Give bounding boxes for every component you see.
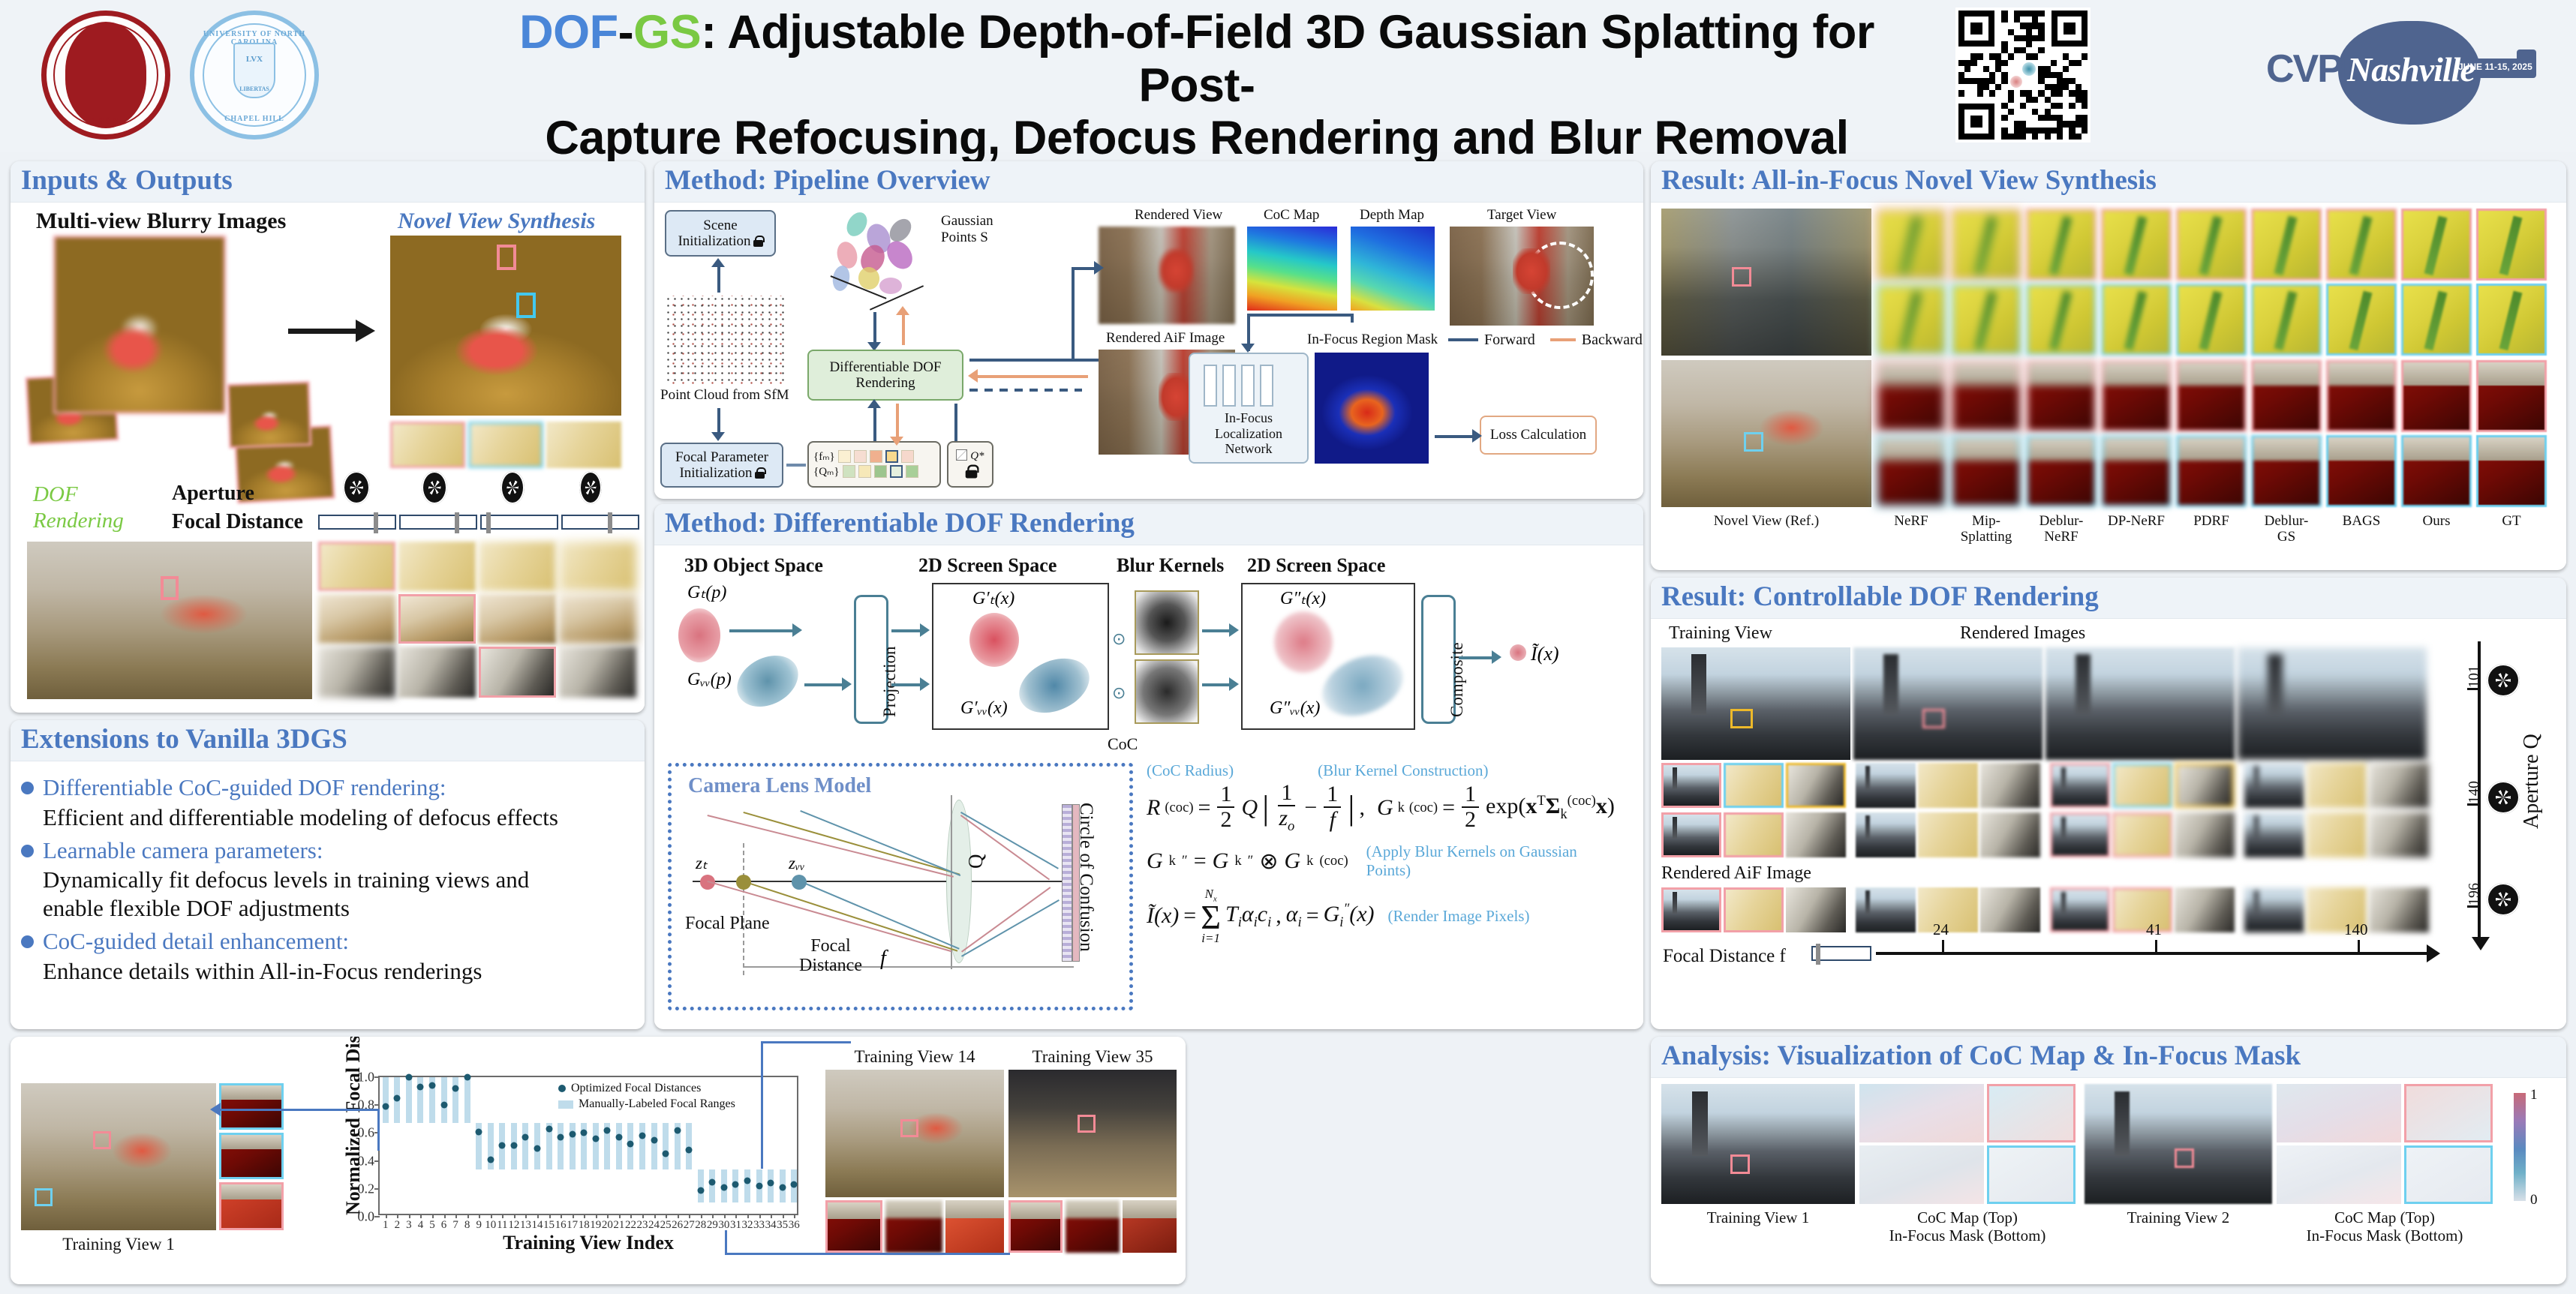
chart-xtick-label: 19 bbox=[590, 1219, 601, 1232]
panel-analysis-coc-body: Training View 1 CoC Map (Top) In-Focus M… bbox=[1651, 1078, 2566, 1278]
chart-range-bar bbox=[663, 1123, 669, 1169]
arrow-pointcloud-to-focal bbox=[717, 408, 720, 434]
dof-crop bbox=[1724, 887, 1784, 932]
dof-crop bbox=[1786, 763, 1846, 808]
chart-xtick-mark bbox=[573, 1214, 574, 1218]
label-infocus-region-mask: In-Focus Region Mask bbox=[1307, 332, 1438, 348]
chart-xtick-mark bbox=[397, 1214, 398, 1218]
focal-tick-mark-3 bbox=[2358, 940, 2360, 952]
aif-crop bbox=[1951, 360, 2021, 432]
analysis-training-view-35-image bbox=[1008, 1070, 1177, 1197]
aperture-icon-4[interactable] bbox=[579, 471, 602, 504]
dof-crop-group bbox=[2050, 812, 2235, 857]
chart-range-bar bbox=[709, 1169, 715, 1203]
chart-xtick-label: 8 bbox=[464, 1219, 470, 1232]
aperture-icon-3[interactable] bbox=[500, 471, 525, 504]
panel-pipeline-body: Scene Initialization Point Cloud from Sf… bbox=[654, 203, 1643, 493]
leader-line-view14 bbox=[761, 1041, 763, 1169]
aif-method-label: Deblur-GS bbox=[2251, 513, 2322, 545]
dof-crop-r2c3 bbox=[479, 594, 556, 644]
focal-plane-line bbox=[743, 843, 744, 975]
bullet-dot-icon bbox=[21, 845, 34, 857]
panel-dof-result-header: Result: Controllable DOF Rendering bbox=[1651, 578, 2566, 619]
infocus-mask-image bbox=[1315, 353, 1429, 464]
chart-xtick-label: 34 bbox=[765, 1219, 777, 1232]
input-view-thumb-2 bbox=[227, 381, 312, 449]
chart-xtick-mark bbox=[420, 1214, 422, 1218]
dof-crop-group bbox=[1661, 887, 1846, 932]
equation-coc-radius: R(coc)= 12 Q | 1zo − 1f | , Gk(coc)= 12 … bbox=[1147, 782, 1597, 833]
eq-note-render: (Render Image Pixels) bbox=[1388, 907, 1530, 926]
panel-analysis-focal-body: Training View 1 0.00.20.40.60.81.0123456… bbox=[11, 1037, 1186, 1284]
extension-item-2-head: Learnable camera parameters: bbox=[43, 836, 323, 865]
box-scene-initialization: Scene Initialization bbox=[665, 210, 776, 257]
aif-crops-row-bottom2 bbox=[1876, 435, 2547, 507]
aif-crop bbox=[2476, 435, 2547, 507]
chart-data-point bbox=[756, 1183, 762, 1190]
dof-crop bbox=[1661, 812, 1721, 857]
bullet-dot-icon bbox=[21, 935, 34, 948]
chart-xtick-mark bbox=[712, 1214, 714, 1218]
dof-crop bbox=[1856, 812, 1916, 857]
chart-xtick-mark bbox=[502, 1214, 503, 1218]
label-depth-map: Depth Map bbox=[1360, 207, 1424, 224]
chart-ytick-mark bbox=[374, 1188, 380, 1190]
chart-data-point bbox=[709, 1178, 716, 1185]
aif-method-label: PDRF bbox=[2176, 513, 2247, 529]
panel-extensions-body: Differentiable CoC-guided DOF rendering:… bbox=[11, 761, 645, 1023]
chart-range-bar bbox=[698, 1169, 704, 1203]
chart-data-point bbox=[522, 1133, 529, 1140]
aperture-tick-mark-2 bbox=[2467, 803, 2479, 806]
panel-aif-result: Result: All-in-Focus Novel View Synthesi… bbox=[1651, 161, 2566, 570]
chart-range-bar bbox=[570, 1123, 576, 1169]
label-rendered-aif: Rendered AiF Image bbox=[1106, 330, 1225, 347]
panel-ddof-body: 3D Object Space 2D Screen Space Blur Ker… bbox=[654, 545, 1643, 1023]
analysis-tv35-crop-1 bbox=[1008, 1200, 1063, 1253]
aif-crop bbox=[1951, 209, 2021, 281]
arrow-head-input-to-output bbox=[356, 320, 375, 342]
dof-crop-group bbox=[1856, 812, 2040, 857]
dof-crop bbox=[2112, 763, 2172, 808]
aif-crop bbox=[2326, 209, 2397, 281]
box-loss-calculation: Loss Calculation bbox=[1480, 416, 1597, 455]
label-coc: CoC bbox=[1108, 734, 1138, 754]
arrow-kernel-out-1 bbox=[1202, 629, 1231, 632]
aif-method-label: Novel View (Ref.) bbox=[1661, 513, 1871, 529]
dof-crop-r2c1 bbox=[318, 594, 395, 644]
dof-crop bbox=[1786, 812, 1846, 857]
chart-data-point bbox=[627, 1141, 634, 1148]
label-rendered-images: Rendered Images bbox=[1960, 623, 2085, 644]
bullet-dot-icon bbox=[21, 782, 34, 794]
label-analysis-training-view-35: Training View 35 bbox=[1008, 1047, 1177, 1067]
label-analysis-training-view-1: Training View 1 bbox=[21, 1235, 216, 1254]
chart-data-point bbox=[581, 1130, 588, 1136]
chart-xtick-label: 26 bbox=[672, 1219, 683, 1232]
dof-crop-row-2 bbox=[1661, 812, 2436, 857]
chart-xtick-label: 25 bbox=[660, 1219, 672, 1232]
aif-crop bbox=[1951, 435, 2021, 507]
param-qm-label: {Qₘ} bbox=[813, 466, 840, 479]
chart-data-point bbox=[592, 1135, 599, 1142]
chart-xtick-label: 31 bbox=[730, 1219, 741, 1232]
dof-crop bbox=[2050, 763, 2110, 808]
label-multiview-blurry: Multi-view Blurry Images bbox=[36, 209, 286, 234]
extension-item-2-sub-line2: enable flexible DOF adjustments bbox=[43, 894, 631, 923]
leader-arrow-view1 bbox=[210, 1103, 221, 1116]
label-coc-tv1: Training View 1 bbox=[1661, 1208, 1855, 1227]
extension-item-1-sub: Efficient and differentiable modeling of… bbox=[43, 803, 631, 832]
aif-crop bbox=[1951, 284, 2021, 356]
aif-crop bbox=[2251, 435, 2322, 507]
dof-crop bbox=[2050, 887, 2110, 932]
chart-data-point bbox=[686, 1146, 693, 1153]
dof-render-main bbox=[27, 542, 312, 699]
chart-data-point bbox=[464, 1074, 470, 1081]
dof-crop bbox=[2369, 887, 2429, 932]
chart-xtick-mark bbox=[666, 1214, 667, 1218]
title-rest-line1: : Adjustable Depth-of-Field 3D Gaussian … bbox=[701, 6, 1874, 112]
analysis-training-view-14-image bbox=[825, 1070, 1004, 1197]
dof-crop bbox=[1980, 812, 2040, 857]
chart-data-point bbox=[440, 1102, 447, 1109]
aif-crop bbox=[2101, 284, 2172, 356]
focal-tick-mark-1 bbox=[1942, 940, 1944, 952]
label-3d-object-space: 3D Object Space bbox=[684, 554, 823, 577]
arrow-head bbox=[867, 399, 881, 408]
coc-mask-crop-2 bbox=[2404, 1145, 2493, 1204]
blur-kernel-1 bbox=[1135, 590, 1199, 655]
chart-data-point bbox=[569, 1131, 576, 1138]
depth-map-image bbox=[1351, 227, 1435, 311]
coc-map-crop-2 bbox=[2404, 1084, 2493, 1142]
dof-crop-row-1 bbox=[1661, 763, 2436, 808]
dof-crop-r1c2 bbox=[398, 542, 476, 591]
dof-crop-row-3 bbox=[1661, 887, 2436, 932]
label-aperture: Aperture bbox=[172, 482, 254, 506]
panel-analysis-coc-title: Analysis: Visualization of CoC Map & In-… bbox=[1661, 1041, 2556, 1071]
chart-data-point bbox=[417, 1084, 424, 1091]
label-rendered-aif-dof: Rendered AiF Image bbox=[1661, 863, 1811, 884]
title-sep: - bbox=[618, 6, 633, 59]
chart-data-point bbox=[487, 1156, 494, 1163]
dof-crop bbox=[2244, 763, 2304, 808]
aif-crop bbox=[2476, 284, 2547, 356]
chart-legend-label: Optimized Focal Distances bbox=[571, 1082, 701, 1095]
panel-extensions-title: Extensions to Vanilla 3DGS bbox=[21, 725, 634, 755]
label-focal-distance-lens: Focal Distance bbox=[799, 936, 862, 976]
arrow-proj-out-t bbox=[891, 629, 921, 632]
dof-crop-r1c3 bbox=[479, 542, 556, 591]
aif-method-label: Mip-Splatting bbox=[1951, 513, 2021, 545]
aif-crop bbox=[2026, 209, 2097, 281]
extension-item-2: Learnable camera parameters: bbox=[21, 836, 631, 865]
dof-crop-r3c1 bbox=[318, 647, 395, 698]
chart-range-bar bbox=[639, 1123, 645, 1169]
chart-data-point bbox=[674, 1127, 681, 1133]
dof-crop bbox=[2307, 763, 2367, 808]
arrow-backward-to-gaussians bbox=[902, 312, 905, 345]
chart-xtick-label: 2 bbox=[395, 1219, 401, 1232]
coc-mask-bottom-2 bbox=[2277, 1145, 2401, 1204]
chart-xtick-mark bbox=[689, 1214, 690, 1218]
dof-crop bbox=[1980, 763, 2040, 808]
analysis-tv1-crop-1 bbox=[219, 1083, 284, 1130]
panel-aif-result-body: Novel View (Ref.)NeRFMip-SplattingDeblur… bbox=[1651, 203, 2566, 564]
extension-item-3-sub: Enhance details within All-in-Focus rend… bbox=[43, 957, 631, 986]
aif-crop bbox=[2101, 435, 2172, 507]
panel-aif-result-title: Result: All-in-Focus Novel View Synthesi… bbox=[1661, 166, 2556, 196]
coc-colorbar bbox=[2514, 1093, 2526, 1201]
focal-slider-1[interactable] bbox=[318, 515, 396, 530]
focal-distance-slider[interactable] bbox=[1811, 946, 1871, 961]
label-analysis-training-view-14: Training View 14 bbox=[825, 1047, 1004, 1067]
symbol-gw-x: G′ᵥᵥ(x) bbox=[960, 698, 1008, 719]
chart-xtick-label: 20 bbox=[602, 1219, 613, 1232]
chart-xtick-label: 35 bbox=[777, 1219, 788, 1232]
extension-item-3-head: CoC-guided detail enhancement: bbox=[43, 927, 349, 956]
chart-xtick-mark bbox=[549, 1214, 551, 1218]
unc-bottom-text: CHAPEL HILL bbox=[194, 115, 314, 123]
extension-item-1-head: Differentiable CoC-guided DOF rendering: bbox=[43, 773, 446, 802]
panel-inputs-outputs-title: Inputs & Outputs bbox=[21, 166, 634, 196]
dof-crop bbox=[2175, 763, 2235, 808]
aif-crop bbox=[1876, 360, 1946, 432]
label-coc-caption-2: CoC Map (Top) In-Focus Mask (Bottom) bbox=[2277, 1208, 2493, 1245]
gaussian-w-3d bbox=[728, 645, 807, 716]
equation-render-pixels: Ĩ(x)= Nx Σ i=1 Tiαici, αi= Gi″(x) (Rende… bbox=[1147, 887, 1597, 944]
aperture-tick-label-1: 101 bbox=[2466, 665, 2483, 688]
chart-ytick-mark bbox=[374, 1104, 380, 1106]
dof-crop-group bbox=[1856, 763, 2040, 808]
box-projection: Projection bbox=[854, 595, 888, 724]
dof-crop-r3c2 bbox=[398, 647, 476, 698]
aperture-icon-1[interactable] bbox=[343, 471, 370, 504]
chart-xtick-label: 11 bbox=[497, 1219, 507, 1232]
focal-tick-mark-2 bbox=[2155, 940, 2157, 952]
panel-dof-result-body: Training View Rendered Images Rendered A… bbox=[1651, 619, 2566, 1023]
label-2d-screen-space-a: 2D Screen Space bbox=[918, 554, 1057, 577]
colorbar-max-label: 1 bbox=[2530, 1087, 2538, 1103]
qr-center-logo bbox=[2004, 56, 2042, 94]
dof-crop bbox=[2112, 887, 2172, 932]
dof-crop bbox=[2244, 887, 2304, 932]
focal-slider-4[interactable] bbox=[561, 515, 639, 530]
analysis-tv1-crop-3 bbox=[219, 1182, 284, 1230]
chart-xtick-label: 18 bbox=[579, 1219, 590, 1232]
conv-operator-1: ⊙ bbox=[1112, 629, 1126, 649]
forward-arrow-icon bbox=[1448, 338, 1478, 341]
arrow-depth-down bbox=[1351, 314, 1354, 323]
analysis-tv35-crop-2 bbox=[1066, 1200, 1120, 1253]
label-gaussian-points: Gaussian Points S bbox=[941, 213, 993, 247]
chart-xtick-label: 23 bbox=[637, 1219, 648, 1232]
chart-xtick-label: 7 bbox=[452, 1219, 458, 1232]
equation-block: (CoC Radius) (Blur Kernel Construction) … bbox=[1147, 761, 1597, 944]
panel-pipeline: Method: Pipeline Overview Scene Initiali… bbox=[654, 161, 1643, 499]
dof-crop bbox=[2050, 812, 2110, 857]
arrow-head bbox=[1241, 344, 1255, 353]
network-layers-icon bbox=[1204, 365, 1273, 407]
aif-crops-row-top2 bbox=[1876, 284, 2547, 356]
chart-xtick-label: 21 bbox=[613, 1219, 624, 1232]
dof-crop bbox=[1918, 812, 1978, 857]
pku-year: 1898 bbox=[47, 115, 165, 127]
panel-dof-result-title: Result: Controllable DOF Rendering bbox=[1661, 582, 2556, 612]
novel-view-crop-1 bbox=[390, 422, 465, 468]
arrow-head bbox=[711, 432, 725, 441]
chart-data-point bbox=[452, 1085, 459, 1091]
chart-xtick-label: 17 bbox=[567, 1219, 578, 1232]
label-focal-distance: Focal Distance bbox=[172, 510, 303, 534]
eq-note-blur-kernel: (Blur Kernel Construction) bbox=[1318, 761, 1488, 780]
eq-note-coc-radius: (CoC Radius) bbox=[1147, 761, 1234, 780]
box-differentiable-dof-rendering: Differentiable DOF Rendering bbox=[807, 350, 963, 401]
chart-data-point bbox=[604, 1127, 611, 1133]
chart-xtick-label: 24 bbox=[648, 1219, 660, 1232]
point-cloud-image bbox=[665, 296, 785, 384]
backward-arrow-icon bbox=[1550, 338, 1576, 341]
chart-xtick-label: 12 bbox=[508, 1219, 519, 1232]
arrow-ddof-to-rendered bbox=[969, 359, 1099, 362]
box-infocus-localization-network: In-Focus Localization Network bbox=[1189, 353, 1309, 464]
panel-inputs-outputs: Inputs & Outputs Multi-view Blurry Image… bbox=[11, 161, 645, 713]
qr-code[interactable] bbox=[1955, 8, 2091, 143]
chart-xtick-mark bbox=[561, 1214, 562, 1218]
dof-crop bbox=[2244, 812, 2304, 857]
panel-ddof-header: Method: Differentiable DOF Rendering bbox=[654, 504, 1643, 545]
arrow-head bbox=[890, 437, 903, 446]
arrow-shaft-input-to-output bbox=[288, 329, 357, 334]
equation-apply-blur: Gk″= Gk″ ⊗ Gk(coc) (Apply Blur Kernels o… bbox=[1147, 842, 1597, 880]
dof-crop-group bbox=[2244, 763, 2429, 808]
chart-data-point bbox=[546, 1125, 552, 1132]
panel-inputs-outputs-body: Multi-view Blurry Images Novel View Synt… bbox=[11, 203, 645, 707]
arrow-gaussians-to-ddof bbox=[873, 312, 876, 345]
panel-analysis-coc-header: Analysis: Visualization of CoC Map & In-… bbox=[1651, 1037, 2566, 1078]
legend-forward-backward: Forward Backward bbox=[1448, 332, 1643, 349]
chart-range-bar bbox=[651, 1123, 657, 1169]
chart-xtick-label: 16 bbox=[555, 1219, 567, 1232]
chart-xtick-mark bbox=[409, 1214, 410, 1218]
coc-map-image bbox=[1247, 227, 1337, 311]
chart-xtick-mark bbox=[467, 1214, 469, 1218]
label-blur-kernels: Blur Kernels bbox=[1117, 554, 1224, 577]
title-rest-line2: Capture Refocusing, Defocus Rendering an… bbox=[545, 112, 1848, 164]
aif-crop bbox=[1876, 209, 1946, 281]
aif-crop bbox=[2251, 360, 2322, 432]
chart-xtick-label: 30 bbox=[718, 1219, 729, 1232]
chart-data-point bbox=[510, 1142, 517, 1149]
analysis-training-view-1-image bbox=[21, 1083, 216, 1230]
focal-slider-3[interactable] bbox=[480, 515, 558, 530]
lock-icon bbox=[755, 467, 765, 479]
analysis-tv14-crop-1 bbox=[825, 1200, 882, 1253]
dof-crop bbox=[1661, 763, 1721, 808]
aif-method-label: DP-NeRF bbox=[2101, 513, 2172, 529]
label-2d-screen-space-b: 2D Screen Space bbox=[1247, 554, 1385, 577]
aif-method-captions: Novel View (Ref.)NeRFMip-SplattingDeblur… bbox=[1661, 513, 2551, 545]
chart-xtick-label: 15 bbox=[543, 1219, 555, 1232]
chart-xtick-mark bbox=[607, 1214, 609, 1218]
analysis-tv35-crop-3 bbox=[1123, 1200, 1177, 1253]
symbol-gt-x: G′ₜ(x) bbox=[972, 587, 1014, 609]
panel-ddof-title: Method: Differentiable DOF Rendering bbox=[665, 509, 1633, 539]
chart-data-point bbox=[663, 1151, 669, 1157]
chart-range-bar bbox=[744, 1169, 750, 1203]
aif-crop bbox=[2401, 284, 2472, 356]
extension-item-2-sub-line1: Dynamically fit defocus levels in traini… bbox=[43, 866, 631, 894]
chart-xtick-mark bbox=[525, 1214, 527, 1218]
arrow-head bbox=[920, 623, 930, 637]
leader-line-view14-h bbox=[761, 1041, 851, 1043]
label-rendered-view: Rendered View bbox=[1135, 207, 1222, 224]
chart-xtick-label: 3 bbox=[406, 1219, 412, 1232]
chart-ytick-mark bbox=[374, 1076, 380, 1078]
chart-xtick-mark bbox=[678, 1214, 679, 1218]
camera-lens-model-box: Camera Lens Model zₜ zᵥᵥ Focal Plane Q bbox=[668, 763, 1133, 1010]
dof-crop bbox=[1856, 763, 1916, 808]
screen-space-b-box: G″ₜ(x) G″ᵥᵥ(x) bbox=[1241, 583, 1415, 730]
chart-xtick-mark bbox=[537, 1214, 539, 1218]
chart-xtick-label: 10 bbox=[485, 1219, 496, 1232]
dof-crop bbox=[1724, 812, 1784, 857]
chart-xtick-label: 22 bbox=[625, 1219, 636, 1232]
dof-crop bbox=[1918, 763, 1978, 808]
dof-crop-r1c1 bbox=[318, 542, 395, 591]
coc-training-view-1-image bbox=[1661, 1084, 1855, 1204]
label-zw: zᵥᵥ bbox=[789, 854, 805, 873]
lock-icon bbox=[966, 464, 978, 478]
label-focal-distance-axis: Focal Distance f bbox=[1663, 946, 1786, 967]
panel-analysis-coc: Analysis: Visualization of CoC Map & In-… bbox=[1651, 1037, 2566, 1284]
chart-xtick-mark bbox=[432, 1214, 434, 1218]
dof-crop-group bbox=[1661, 763, 1846, 808]
aif-crop bbox=[2176, 360, 2247, 432]
aif-crop bbox=[1876, 435, 1946, 507]
chart-xtick-label: 9 bbox=[476, 1219, 482, 1232]
dof-crop bbox=[1661, 887, 1721, 932]
arrow-ddof-dashed bbox=[969, 389, 1082, 392]
chart-legend-item: Optimized Focal Distances bbox=[558, 1082, 735, 1095]
panel-inputs-outputs-header: Inputs & Outputs bbox=[11, 161, 645, 203]
coc-map-top-1 bbox=[1859, 1084, 1984, 1142]
unc-shield-bottom: LIBERTAS bbox=[235, 86, 274, 92]
lock-icon bbox=[753, 236, 763, 247]
chart-data-point bbox=[768, 1180, 774, 1187]
panel-pipeline-title: Method: Pipeline Overview bbox=[665, 166, 1633, 196]
analysis-tv14-crop-2 bbox=[885, 1200, 942, 1253]
chart-xtick-mark bbox=[619, 1214, 621, 1218]
dof-view-r1c4 bbox=[2238, 647, 2427, 760]
title-dof: DOF bbox=[519, 6, 618, 59]
aperture-icon-2[interactable] bbox=[422, 471, 447, 504]
aif-crop bbox=[2476, 360, 2547, 432]
aperture-tick-mark-1 bbox=[2467, 688, 2479, 690]
chart-legend-swatch bbox=[558, 1085, 566, 1092]
dof-view-r1c1 bbox=[1661, 647, 1850, 760]
focal-tick-label-1: 24 bbox=[1933, 920, 1949, 939]
focal-slider-2[interactable] bbox=[399, 515, 477, 530]
chart-xtick-label: 4 bbox=[418, 1219, 424, 1232]
symbol-gt-p: Gₜ(p) bbox=[687, 581, 726, 603]
chart-xtick-mark bbox=[724, 1214, 726, 1218]
chart-xtick-mark bbox=[630, 1214, 632, 1218]
unc-shield-top: LVX bbox=[235, 55, 274, 64]
symbol-gt-x2: G″ₜ(x) bbox=[1280, 587, 1326, 609]
aif-crop bbox=[2176, 284, 2247, 356]
